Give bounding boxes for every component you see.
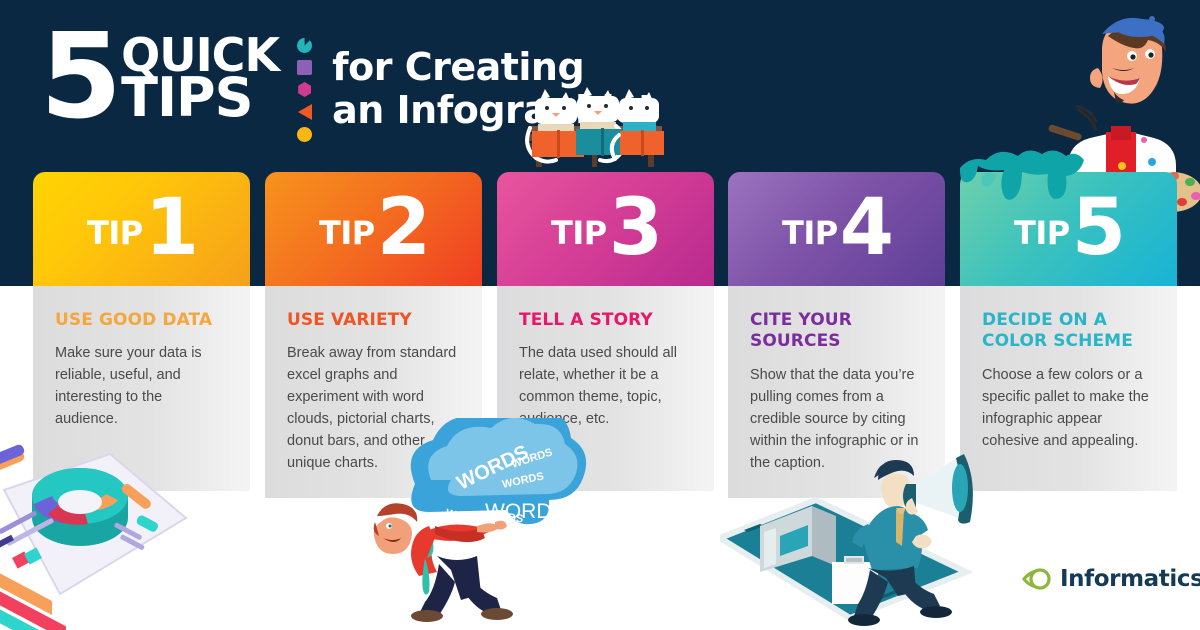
circle-shape-icon (297, 127, 312, 142)
tip-card-5-body: DECIDE ON A COLOR SCHEME Choose a few co… (960, 286, 1177, 491)
tip-card-4-word: TIP (782, 214, 838, 261)
tip-card-5-word: TIP (1014, 214, 1070, 261)
word-cloud-man-illustration: WORDS WORDS WORDS WORDS WORDS WORDS (345, 418, 625, 630)
tip-card-1-header: TIP 1 (33, 172, 250, 286)
tip-card-5-description: Choose a few colors or a specific pallet… (982, 364, 1155, 452)
tip-card-4-title: CITE YOUR SOURCES (750, 310, 923, 353)
tip-card-4-number: 4 (840, 197, 891, 261)
tip-card-1-title: USE GOOD DATA (55, 310, 228, 331)
tip-card-1-word: TIP (87, 214, 143, 261)
painter-head (1090, 16, 1166, 104)
tip-card-3-word: TIP (551, 214, 607, 261)
headline-big-number: 5 (40, 22, 117, 132)
cat-1 (527, 89, 584, 162)
tip-card-5-title: DECIDE ON A COLOR SCHEME (982, 310, 1155, 353)
tip-card-4-header: TIP 4 (728, 172, 945, 286)
headline-quicktips: QUICK TIPS (121, 34, 279, 124)
square-shape-icon (297, 60, 312, 75)
decorative-shape-column (297, 38, 312, 142)
tip-card-2-number: 2 (377, 197, 428, 261)
data-dashboard-illustration (0, 418, 190, 630)
paint-brush (1048, 106, 1096, 141)
cats-reading-books-illustration (520, 78, 670, 173)
hexagon-shape-icon (297, 82, 312, 97)
tip-card-2-title: USE VARIETY (287, 310, 460, 331)
tip-card-3-number: 3 (609, 197, 660, 261)
informatics-logo-text: Informatics (1060, 566, 1200, 592)
tip-card-5[interactable]: TIP 5 DECIDE ON A COLOR SCHEME Choose a … (960, 172, 1177, 491)
pie-shape-icon (297, 38, 312, 53)
word-cloud: WORDS WORDS WORDS WORDS WORDS WORDS (411, 418, 586, 529)
informatics-logo[interactable]: Informatics (1020, 566, 1200, 592)
donut-chart-3d (32, 468, 128, 546)
tip-card-1-number: 1 (145, 197, 196, 261)
informatics-logo-mark (1020, 566, 1052, 592)
tip-card-5-header: TIP 5 (960, 172, 1177, 286)
tip-card-5-number: 5 (1072, 197, 1123, 261)
triangle-shape-icon (298, 104, 312, 120)
tip-card-2-word: TIP (319, 214, 375, 261)
megaphone-businessman-illustration (720, 440, 975, 630)
tip-card-3-header: TIP 3 (497, 172, 714, 286)
tip-card-3-title: TELL A STORY (519, 310, 692, 331)
megaphone-icon (903, 454, 973, 524)
tip-card-2-header: TIP 2 (265, 172, 482, 286)
infographic-canvas: 5 QUICK TIPS for Creating an Infographic… (0, 0, 1200, 630)
